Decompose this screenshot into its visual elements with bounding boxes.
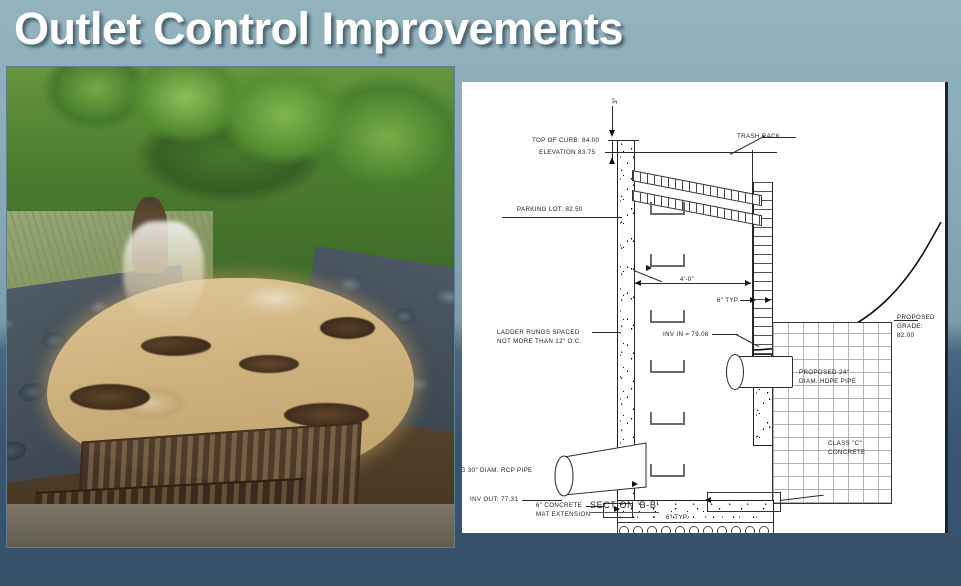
elevation-label: ELEVATION 83.75 xyxy=(539,149,595,157)
proposed-grade-label-1: PROPOSED xyxy=(897,314,935,322)
parking-lot-leader xyxy=(502,217,622,218)
class-c-label-1: CLASS "C" xyxy=(828,440,862,448)
mat-extension-label-2: MAT EXTENSION xyxy=(536,511,591,519)
photo-debris xyxy=(141,336,211,356)
flow-arrow-icon xyxy=(632,481,638,487)
hdpe-label-1: PROPOSED 24" xyxy=(799,369,849,377)
ladder-rung xyxy=(650,310,685,323)
proposed-grade-label-2: GRADE: xyxy=(897,323,923,331)
ladder-arrow-icon xyxy=(646,265,652,271)
dim-six-typ-label: 6" TYP. xyxy=(717,297,740,305)
dimension-top: 3" xyxy=(612,97,619,104)
parking-lot-label: PARKING LOT: 82.50 xyxy=(517,206,583,214)
ladder-rung xyxy=(650,412,685,425)
top-of-curb-leader xyxy=(608,140,620,141)
ladder-rungs-label-1: LADDER RUNGS SPACED xyxy=(497,329,580,337)
dim-arrow-right-icon xyxy=(745,280,751,286)
hdpe-pipe-face xyxy=(726,354,744,390)
engineering-drawing: 3" 4'-0" 6" TYP. xyxy=(462,82,948,533)
dim-extension-line xyxy=(612,106,613,132)
page-title: Outlet Control Improvements xyxy=(14,0,623,58)
dim-arrow-up-icon xyxy=(609,157,615,164)
dim-six-typ2-label: 6" TYP. xyxy=(666,514,689,522)
top-of-curb-label: TOP OF CURB: 84.00 xyxy=(532,137,599,145)
hdpe-label-2: DIAM. HDPE PIPE xyxy=(799,378,856,386)
proposed-grade-label-3: 82.00 xyxy=(897,332,914,340)
ladder-rung xyxy=(650,464,685,477)
ladder-rung xyxy=(650,360,685,373)
ladder-rung xyxy=(650,254,685,267)
inv-in-leader xyxy=(712,334,738,335)
trash-rack-label: TRASH RACK xyxy=(737,133,780,141)
ladder-rungs-leader xyxy=(592,332,620,333)
photo-debris xyxy=(70,384,150,410)
classc-callout-box xyxy=(707,492,781,512)
photo-water-plume xyxy=(123,221,203,327)
structure-top-left xyxy=(617,140,639,141)
dim-width-label: 4'-0" xyxy=(680,276,694,284)
stone-bedding xyxy=(617,522,774,533)
dim-arrow-left-icon xyxy=(635,280,641,286)
classc-arrow-icon xyxy=(705,497,711,503)
photo-concrete-apron xyxy=(7,504,454,547)
existing-rcp-pipe xyxy=(550,437,650,507)
class-c-concrete-block xyxy=(772,322,892,504)
class-c-label-2: CONCRETE xyxy=(828,449,866,457)
ladder-rungs-label-2: NOT MORE THAN 12" O.C. xyxy=(497,338,582,346)
mat-extension-label-1: 6" CONCRETE xyxy=(536,502,582,510)
site-photo xyxy=(6,66,455,548)
ladder-rung xyxy=(650,202,685,215)
inv-out-leader xyxy=(522,500,562,501)
inv-in-label-main: INV IN = 79.08 xyxy=(663,331,709,339)
dim-arrow-down-icon xyxy=(609,130,615,137)
photo-debris xyxy=(320,317,375,339)
inv-out-label: INV OUT: 77.31 xyxy=(470,496,518,504)
structure-elev-line xyxy=(617,152,777,153)
slide: Outlet Control Improvements 3" xyxy=(0,0,961,586)
section-title-main: SECTION 'B-B' xyxy=(590,500,659,513)
existing-rcp-label: EXISTING 30" DIAM. RCP PIPE xyxy=(462,467,533,475)
